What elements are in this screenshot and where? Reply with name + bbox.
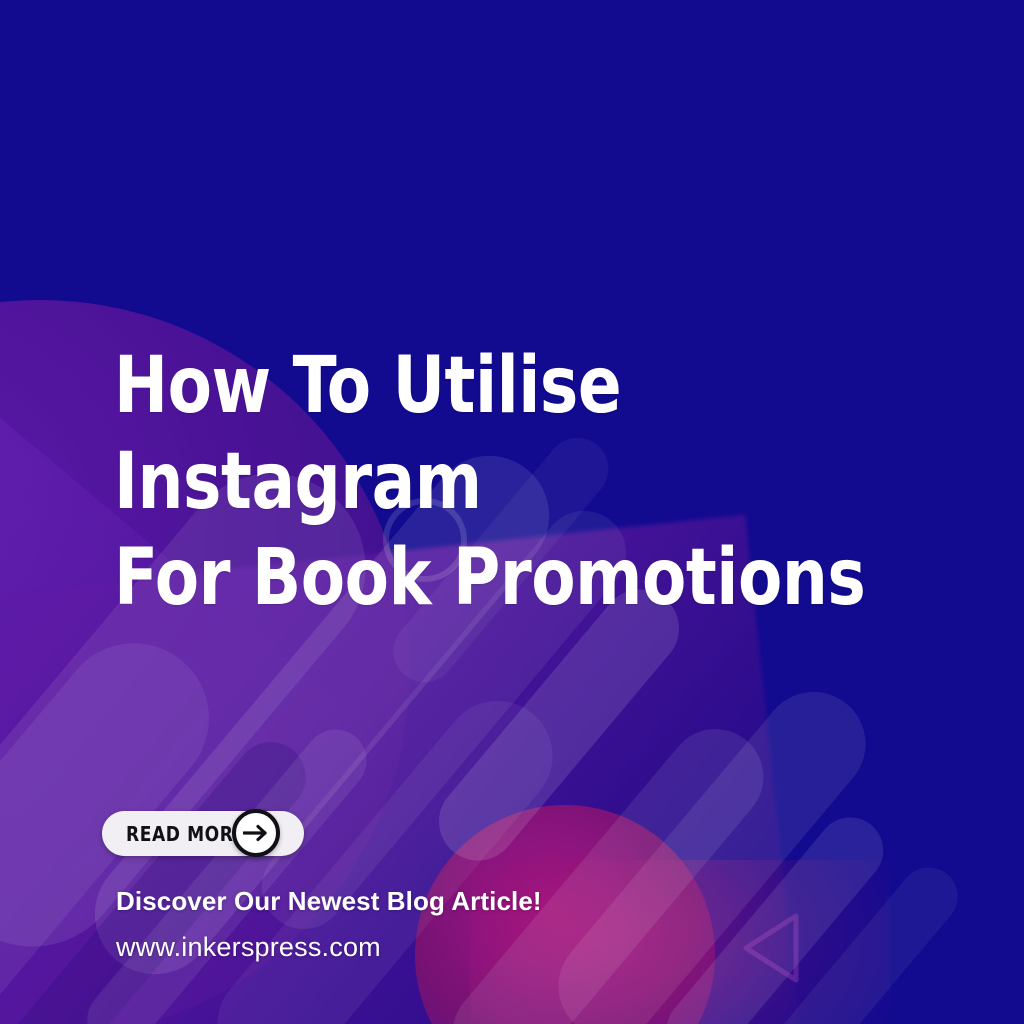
social-post-poster: How To Utilise Instagram For Book Promot… <box>0 0 1024 1024</box>
website-url[interactable]: www.inkerspress.com <box>116 932 381 963</box>
tagline-text: Discover Our Newest Blog Article! <box>116 886 542 917</box>
poster-content: How To Utilise Instagram For Book Promot… <box>0 0 1024 1024</box>
arrow-right-icon[interactable] <box>232 809 280 857</box>
read-more-label: READ MORE <box>126 822 246 846</box>
page-title: How To Utilise Instagram For Book Promot… <box>114 338 878 626</box>
